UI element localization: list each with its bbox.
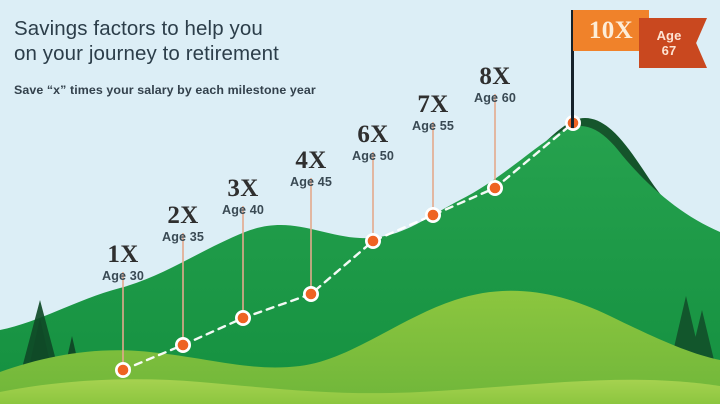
milestone-label-6x: 6XAge 50: [352, 122, 394, 164]
milestone-age-6x: Age 50: [352, 149, 394, 164]
milestone-factor-3x: 3X: [222, 176, 264, 202]
milestone-factor-2x: 2X: [162, 203, 204, 229]
milestone-age-8x: Age 60: [474, 91, 516, 106]
milestone-dot-8x[interactable]: [490, 183, 501, 194]
milestone-label-2x: 2XAge 35: [162, 203, 204, 245]
milestone-dot-4x[interactable]: [306, 289, 317, 300]
milestone-factor-1x: 1X: [102, 242, 144, 268]
milestone-age-4x: Age 45: [290, 175, 332, 190]
milestone-factor-7x: 7X: [412, 92, 454, 118]
milestone-factor-6x: 6X: [352, 122, 394, 148]
milestone-label-4x: 4XAge 45: [290, 148, 332, 190]
flag-factor-label: 10X: [589, 17, 633, 45]
milestone-label-8x: 8XAge 60: [474, 64, 516, 106]
milestone-label-3x: 3XAge 40: [222, 176, 264, 218]
milestone-dot-3x[interactable]: [238, 313, 249, 324]
milestone-label-1x: 1XAge 30: [102, 242, 144, 284]
milestone-factor-8x: 8X: [474, 64, 516, 90]
milestone-age-3x: Age 40: [222, 203, 264, 218]
milestone-dot-2x[interactable]: [178, 340, 189, 351]
milestone-dot-6x[interactable]: [368, 236, 379, 247]
milestone-dot-1x[interactable]: [118, 365, 129, 376]
milestone-label-7x: 7XAge 55: [412, 92, 454, 134]
page-title: Savings factors to help you on your jour…: [14, 16, 434, 66]
milestone-factor-4x: 4X: [290, 148, 332, 174]
flag-age-label-line2: 67: [662, 43, 685, 58]
flag-factor-badge: 10X: [573, 10, 649, 51]
infographic-canvas: Savings factors to help you on your jour…: [0, 0, 720, 404]
milestone-age-2x: Age 35: [162, 230, 204, 245]
milestone-age-7x: Age 55: [412, 119, 454, 134]
milestone-age-1x: Age 30: [102, 269, 144, 284]
flag-age-label-line1: Age: [657, 28, 690, 43]
milestone-dot-7x[interactable]: [428, 210, 439, 221]
page-subtitle: Save “x” times your salary by each miles…: [14, 83, 444, 97]
